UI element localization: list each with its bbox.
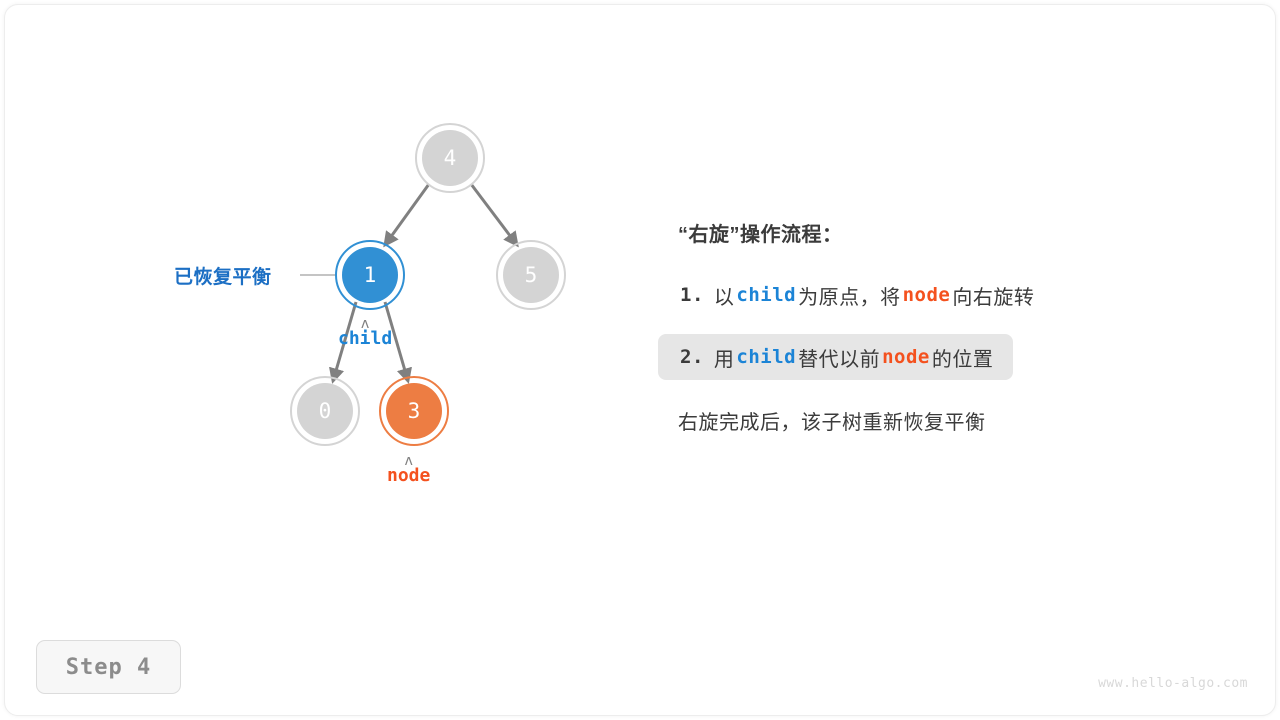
node-value: 3	[408, 401, 421, 422]
keyword-node: node	[880, 346, 932, 368]
panel-conclusion: 右旋完成后，该子树重新恢复平衡	[678, 406, 1198, 435]
tree-node-1[interactable]: 1	[342, 247, 398, 303]
step-text-part: 以	[714, 281, 735, 310]
panel-title: “右旋”操作流程：	[678, 214, 1198, 256]
balanced-annotation-label: 已恢复平衡	[174, 262, 272, 289]
step-text-part: 向右旋转	[952, 281, 1034, 310]
edge-4-1	[385, 184, 429, 245]
step-item-1: 1. 以 child 为原点，将 node 向右旋转	[658, 272, 1054, 318]
child-pointer-text: child	[338, 328, 392, 349]
node-pointer-text: node	[387, 465, 430, 486]
keyword-child: child	[734, 284, 798, 306]
tree-node-0[interactable]: 0	[297, 383, 353, 439]
tree-node-3[interactable]: 3	[386, 383, 442, 439]
step-index: 2.	[678, 346, 706, 368]
node-pointer-label: ʌ node	[387, 457, 430, 486]
step-index: 1.	[678, 284, 706, 306]
caret-up-icon: ʌ	[338, 320, 392, 328]
keyword-node: node	[901, 284, 953, 306]
step-text-part: 为原点，将	[798, 281, 901, 310]
edge-4-5	[471, 184, 517, 245]
node-value: 1	[364, 265, 377, 286]
tree-node-4[interactable]: 4	[422, 130, 478, 186]
explanation-panel: “右旋”操作流程： 1. 以 child 为原点，将 node 向右旋转 2. …	[678, 214, 1198, 435]
tree-node-5[interactable]: 5	[503, 247, 559, 303]
binary-tree-diagram: 4 1 5 0 3 已恢复平衡 ʌ child ʌ node	[0, 0, 660, 720]
tree-edges-svg	[0, 0, 660, 720]
step-badge: Step 4	[36, 640, 181, 694]
caret-up-icon: ʌ	[387, 457, 430, 465]
watermark: www.hello-algo.com	[1098, 676, 1248, 691]
step-text-part: 替代以前	[798, 343, 880, 372]
keyword-child: child	[734, 346, 798, 368]
node-value: 4	[444, 148, 457, 169]
step-text-part: 的位置	[932, 343, 994, 372]
child-pointer-label: ʌ child	[338, 320, 392, 349]
step-item-2: 2. 用 child 替代以前 node 的位置	[658, 334, 1013, 380]
node-value: 5	[525, 265, 538, 286]
diagram-canvas: 4 1 5 0 3 已恢复平衡 ʌ child ʌ node	[0, 0, 1280, 720]
node-value: 0	[319, 401, 332, 422]
step-text-part: 用	[714, 343, 735, 372]
